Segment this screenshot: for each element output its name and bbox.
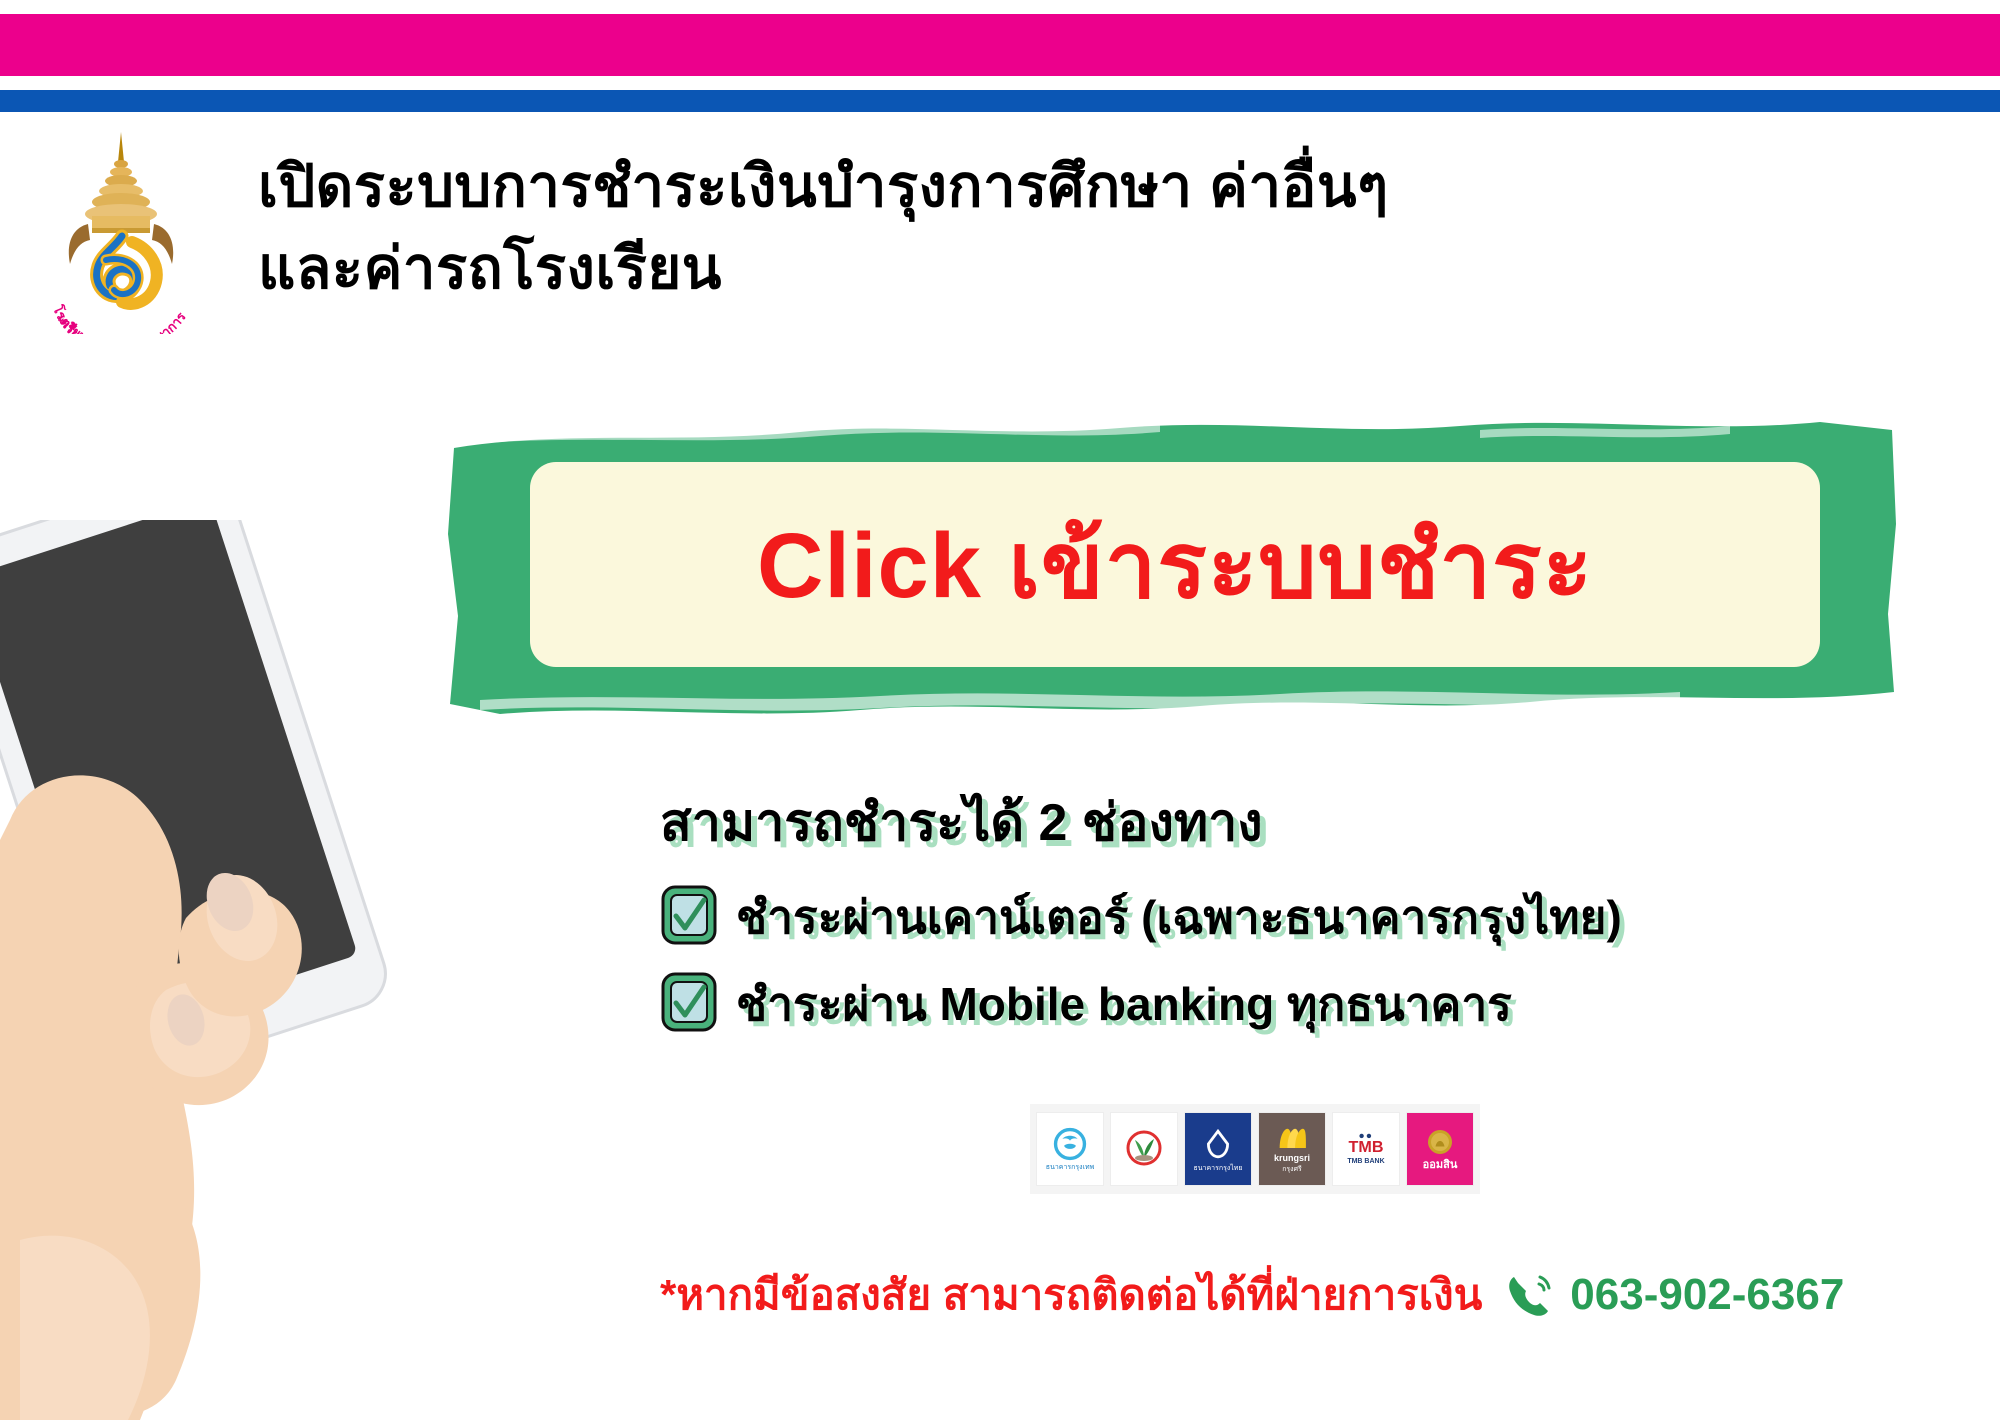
school-crest-icon: โรงเรียนนวมินทราชินูทิศ เตรียมอุดมศึกษาพ… [36, 124, 206, 334]
page-title: เปิดระบบการชำระเงินบำรุงการศึกษา ค่าอื่น… [258, 146, 1488, 311]
top-blue-bar [0, 90, 2000, 112]
bank-logo-gsb: ออมสิน [1406, 1112, 1474, 1186]
hand-holding-phone-illustration [0, 520, 550, 1420]
page-title-line1: เปิดระบบการชำระเงินบำรุงการศึกษา ค่าอื่น… [258, 146, 1488, 228]
page-title-line2: และค่ารถโรงเรียน [258, 228, 1488, 310]
bangkok-bank-icon [1053, 1127, 1087, 1161]
bank-logo-bangkok-bank: ธนาคารกรุงเทพ [1036, 1112, 1104, 1186]
channels-title: สามารถชำระได้ 2 ช่องทาง [660, 780, 1920, 863]
cta-banner[interactable]: Click เข้าระบบชำระ [440, 404, 1905, 720]
bank-logo-tmb-bank: TMB TMB BANK [1332, 1112, 1400, 1186]
checkbox-checked-icon [660, 971, 718, 1038]
school-logo: โรงเรียนนวมินทราชินูทิศ เตรียมอุดมศึกษาพ… [36, 124, 206, 334]
bank-name: ธนาคารกรุงเทพ [1046, 1164, 1094, 1171]
footer-note: *หากมีข้อสงสัย สามารถติดต่อได้ที่ฝ่ายการ… [660, 1262, 1482, 1328]
svg-text:TMB: TMB [1349, 1138, 1384, 1155]
top-pink-bar [0, 14, 2000, 76]
payment-channels: สามารถชำระได้ 2 ช่องทาง ชำระผ่านเคาน์เตอ… [660, 780, 1920, 1055]
gsb-icon [1425, 1127, 1455, 1157]
hand-phone-icon [0, 520, 550, 1420]
bank-logo-baac [1110, 1112, 1178, 1186]
checkbox-checked-icon [660, 884, 718, 951]
krungthai-bank-icon [1202, 1126, 1234, 1162]
krungsri-icon [1275, 1125, 1309, 1151]
cta-label: Click เข้าระบบชำระ [757, 491, 1593, 638]
list-item: ชำระผ่านเคาน์เตอร์ (เฉพาะธนาคารกรุงไทย) [660, 881, 1920, 954]
tmb-bank-icon: TMB [1344, 1133, 1388, 1155]
channel-label: ชำระผ่านเคาน์เตอร์ (เฉพาะธนาคารกรุงไทย) [736, 881, 1622, 954]
bank-logo-strip: ธนาคารกรุงเทพ ธนาคารกรุงไทย krungsri กรุ… [1030, 1104, 1480, 1194]
bank-name: ธนาคารกรุงไทย [1193, 1165, 1242, 1172]
bank-name-sub: TMB BANK [1347, 1158, 1384, 1165]
bank-logo-krungthai-bank: ธนาคารกรุงไทย [1184, 1112, 1252, 1186]
baac-icon [1124, 1128, 1164, 1168]
cta-button[interactable]: Click เข้าระบบชำระ [530, 462, 1820, 667]
footer-contact: *หากมีข้อสงสัย สามารถติดต่อได้ที่ฝ่ายการ… [660, 1262, 1844, 1328]
bank-name-sub: กรุงศรี [1282, 1166, 1302, 1173]
bank-name: ออมสิน [1423, 1160, 1458, 1171]
bank-name: krungsri [1274, 1154, 1310, 1163]
crest-caption-line2: เตรียมอุดมศึกษาพัฒนาการ [55, 309, 189, 334]
channel-label: ชำระผ่าน Mobile banking ทุกธนาคาร [736, 968, 1512, 1041]
list-item: ชำระผ่าน Mobile banking ทุกธนาคาร [660, 968, 1920, 1041]
phone-number: 063-902-6367 [1570, 1270, 1844, 1320]
bank-logo-krungsri: krungsri กรุงศรี [1258, 1112, 1326, 1186]
phone-ringing-icon [1500, 1267, 1556, 1323]
